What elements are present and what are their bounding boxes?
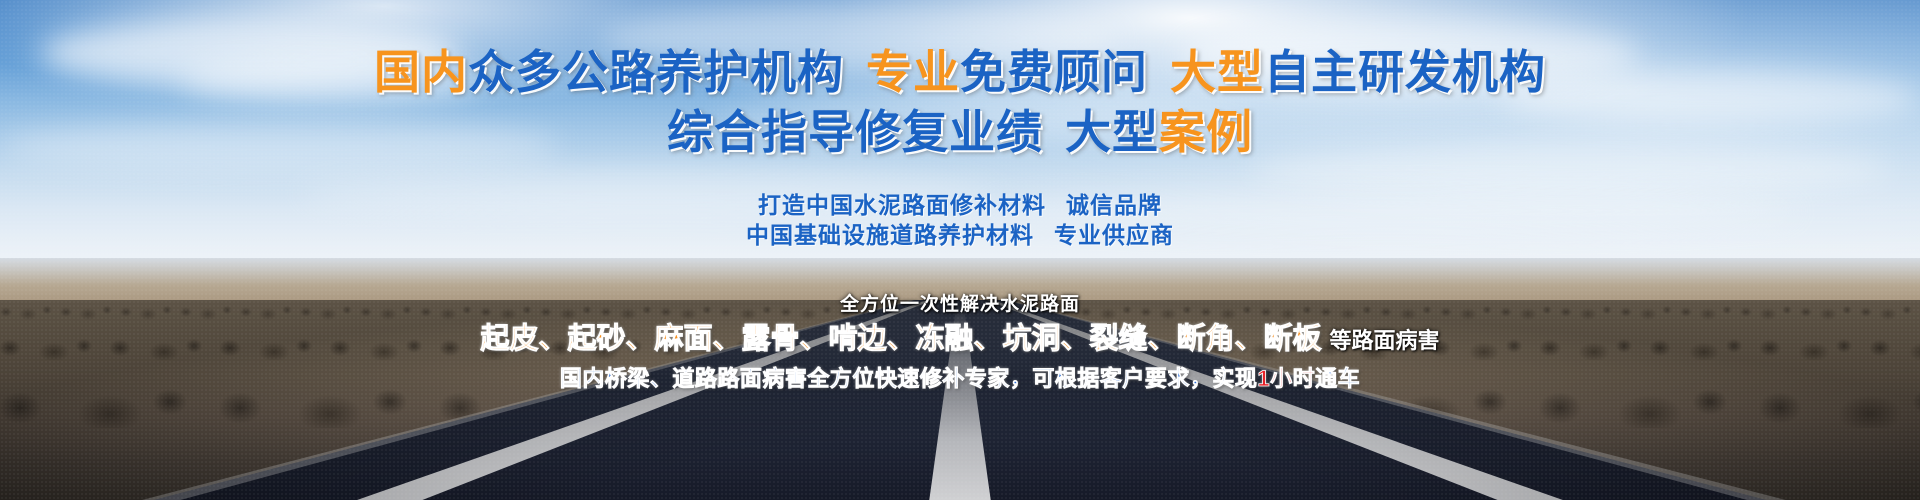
damage-type-list: 起皮、起砂、麻面、露骨、啃边、冻融、坑洞、裂缝、断角、断板	[480, 323, 1321, 355]
headline-seg-zonghezhidao: 综合指导修复业绩	[667, 106, 1043, 158]
subheading-line-1: 打造中国水泥路面修补材料诚信品牌	[0, 190, 1920, 220]
headline-seg-guonei: 国内	[374, 46, 468, 98]
subheading-line-2: 中国基础设施道路养护材料专业供应商	[0, 220, 1920, 250]
headline-seg-zhuanye: 专业	[866, 46, 960, 98]
headline-line-2: 综合指导修复业绩大型案例	[0, 102, 1920, 162]
headline-seg-daxing: 大型	[1170, 46, 1264, 98]
bottom-final-line: 国内桥梁、道路路面病害全方位快速修补专家，可根据客户要求，实现1小时通车	[0, 362, 1920, 396]
headline-seg-zhongduo: 众多公路养护机构	[468, 46, 844, 98]
subheading-block: 打造中国水泥路面修补材料诚信品牌 中国基础设施道路养护材料专业供应商	[0, 190, 1920, 250]
promotional-banner: 国内众多公路养护机构专业免费顾问大型自主研发机构 综合指导修复业绩大型案例 打造…	[0, 0, 1920, 500]
final-text-tail: 通车	[1315, 366, 1360, 391]
headline-seg-anli: 案例	[1159, 106, 1253, 158]
bottom-text-block: 全方位一次性解决水泥路面 起皮、起砂、麻面、露骨、啃边、冻融、坑洞、裂缝、断角、…	[0, 292, 1920, 396]
headline-seg-mianfeiguwen: 免费顾问	[960, 46, 1148, 98]
bottom-kicker: 全方位一次性解决水泥路面	[0, 292, 1920, 318]
headline-seg-zizhuyanfa: 自主研发机构	[1264, 46, 1546, 98]
subheading-seg-brand: 诚信品牌	[1066, 192, 1162, 218]
subheading-seg-material: 打造中国水泥路面修补材料	[758, 192, 1046, 218]
final-text-lead: 国内桥梁、道路路面病害全方位快速修补专家，可根据客户要求，实现	[560, 366, 1258, 391]
headline-line-1: 国内众多公路养护机构专业免费顾问大型自主研发机构	[0, 42, 1920, 102]
banner-content: 国内众多公路养护机构专业免费顾问大型自主研发机构 综合指导修复业绩大型案例 打造…	[0, 0, 1920, 500]
headline-seg-daxing-2: 大型	[1065, 106, 1159, 158]
subheading-seg-infrastructure: 中国基础设施道路养护材料	[746, 222, 1034, 248]
bottom-damage-line: 起皮、起砂、麻面、露骨、啃边、冻融、坑洞、裂缝、断角、断板 等路面病害	[0, 318, 1920, 362]
subheading-seg-supplier: 专业供应商	[1054, 222, 1174, 248]
damage-list-suffix: 等路面病害	[1330, 328, 1440, 353]
headline-block: 国内众多公路养护机构专业免费顾问大型自主研发机构 综合指导修复业绩大型案例	[0, 42, 1920, 162]
final-highlight-one-hour: 1小时	[1257, 366, 1315, 391]
